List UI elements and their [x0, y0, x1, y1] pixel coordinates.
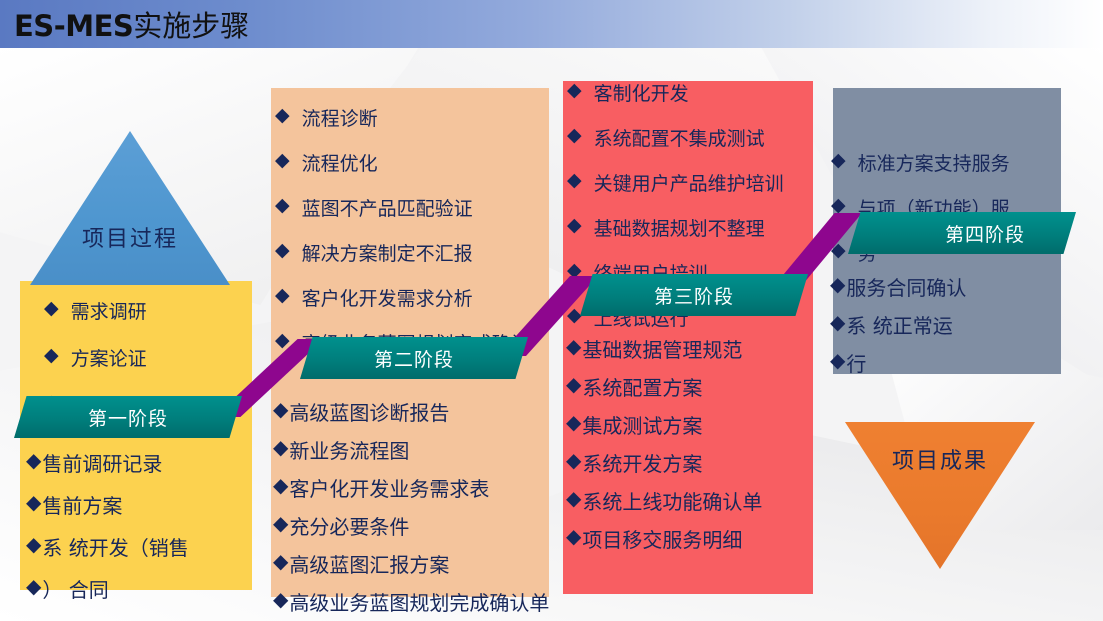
page-title-latin: ES-MES: [14, 9, 133, 43]
stage-1-banner-label: 第一阶段: [88, 404, 168, 431]
list-item-label: 系统配置不集成测试: [594, 124, 765, 151]
list-item-label: 售前方案: [42, 490, 122, 519]
list-item: ◆充分必要条件: [273, 511, 553, 540]
page-title-cjk: 实施步骤: [133, 9, 249, 43]
list-item-label: 系 统正常运: [846, 310, 952, 339]
page-title: ES-MES实施步骤: [14, 3, 249, 45]
stage-1-deliverable-list: ◆售前调研记录◆售前方案◆系 统开发（销售◆） 合同: [26, 448, 248, 616]
list-item-label: 客制化开发: [594, 79, 689, 106]
list-item-label: 流程诊断: [302, 104, 378, 131]
project-result-label: 项目成果: [892, 443, 988, 475]
diamond-bullet-icon: ◆: [566, 410, 581, 434]
list-item-label: 客户化开发业务需求表: [289, 473, 489, 502]
list-item-label: 需求调研: [71, 297, 147, 324]
list-item-label: 系统上线功能确认单: [582, 486, 762, 515]
list-item: ◆需求调研: [44, 297, 147, 324]
list-item-label: 基础数据规划不整理: [594, 214, 765, 241]
diamond-bullet-icon: ◆: [273, 397, 288, 421]
list-item: ◆系统开发方案: [566, 448, 816, 477]
diamond-bullet-icon: ◆: [26, 490, 41, 514]
diamond-bullet-icon: ◆: [830, 310, 845, 334]
diamond-bullet-icon: ◆: [567, 169, 582, 191]
diamond-bullet-icon: ◆: [831, 194, 846, 216]
diamond-bullet-icon: ◆: [275, 194, 290, 216]
diamond-bullet-icon: ◆: [831, 149, 846, 171]
diamond-bullet-icon: ◆: [567, 214, 582, 236]
list-item: ◆关键用户产品维护培训: [567, 169, 819, 196]
list-item: ◆项目移交服务明细: [566, 524, 816, 553]
list-item: ◆） 合同: [26, 574, 248, 603]
list-item: ◆蓝图不产品匹配验证: [275, 194, 551, 221]
list-item: ◆解决方案制定不汇报: [275, 239, 551, 266]
list-item-label: 标准方案支持服务: [858, 149, 1010, 176]
diamond-bullet-icon: ◆: [275, 329, 290, 351]
stage-3-banner[interactable]: 第三阶段: [580, 274, 808, 316]
list-item-label: 解决方案制定不汇报: [302, 239, 473, 266]
list-item: ◆标准方案支持服务: [831, 149, 1061, 176]
list-item: ◆集成测试方案: [566, 410, 816, 439]
list-item: ◆基础数据管理规范: [566, 334, 816, 363]
stage-2-deliverable-list: ◆高级蓝图诊断报告◆新业务流程图◆客户化开发业务需求表◆充分必要条件◆高级蓝图汇…: [273, 397, 553, 621]
list-item-label: 方案论证: [71, 344, 147, 371]
list-item-label: 服务合同确认: [846, 272, 966, 301]
list-item-label: 高级蓝图汇报方案: [289, 549, 449, 578]
list-item-label: 关键用户产品维护培训: [594, 169, 784, 196]
list-item-label: 充分必要条件: [289, 511, 409, 540]
list-item: ◆售前调研记录: [26, 448, 248, 477]
list-item: ◆客户化开发需求分析: [275, 284, 551, 311]
diamond-bullet-icon: ◆: [26, 574, 41, 598]
slide-header-bar: ES-MES实施步骤: [0, 0, 1103, 48]
list-item-label: 售前调研记录: [42, 448, 162, 477]
list-item: ◆高级蓝图诊断报告: [273, 397, 553, 426]
project-process-label: 项目过程: [82, 221, 178, 253]
diamond-bullet-icon: ◆: [26, 532, 41, 556]
list-item-label: 客户化开发需求分析: [302, 284, 473, 311]
list-item: ◆系统上线功能确认单: [566, 486, 816, 515]
list-item: ◆系统配置不集成测试: [567, 124, 819, 151]
diamond-bullet-icon: ◆: [273, 473, 288, 497]
list-item-label: 系 统开发（销售: [42, 532, 188, 561]
diamond-bullet-icon: ◆: [830, 272, 845, 296]
list-item-label: 基础数据管理规范: [582, 334, 742, 363]
diamond-bullet-icon: ◆: [273, 587, 288, 611]
list-item-label: 系统开发方案: [582, 448, 702, 477]
diamond-bullet-icon: ◆: [273, 435, 288, 459]
list-item-label: 行: [846, 348, 866, 377]
list-item: ◆系 统开发（销售: [26, 532, 248, 561]
list-item: ◆客户化开发业务需求表: [273, 473, 553, 502]
list-item-label: 高级业务蓝图规划完成确认单: [289, 587, 549, 616]
list-item: ◆基础数据规划不整理: [567, 214, 819, 241]
diamond-bullet-icon: ◆: [566, 334, 581, 358]
diamond-bullet-icon: ◆: [566, 524, 581, 548]
list-item: ◆系 统正常运: [830, 310, 1056, 339]
list-item: ◆高级业务蓝图规划完成确认单: [273, 587, 553, 616]
stage-4-deliverable-list: ◆服务合同确认◆系 统正常运◆行: [830, 272, 1056, 386]
diamond-bullet-icon: ◆: [44, 297, 59, 319]
stage-3-banner-label: 第三阶段: [654, 282, 734, 309]
list-item-label: 高级蓝图诊断报告: [289, 397, 449, 426]
diamond-bullet-icon: ◆: [567, 79, 582, 101]
list-item: ◆服务合同确认: [830, 272, 1056, 301]
diamond-bullet-icon: ◆: [275, 104, 290, 126]
diamond-bullet-icon: ◆: [26, 448, 41, 472]
diamond-bullet-icon: ◆: [275, 239, 290, 261]
list-item: ◆流程优化: [275, 149, 551, 176]
list-item-label: 流程优化: [302, 149, 378, 176]
list-item-label: 集成测试方案: [582, 410, 702, 439]
list-item-label: 新业务流程图: [289, 435, 409, 464]
stage-4-banner-label: 第四阶段: [899, 220, 1025, 247]
list-item: ◆流程诊断: [275, 104, 551, 131]
stage-4-banner[interactable]: 第四阶段: [848, 212, 1076, 254]
list-item-label: ） 合同: [42, 574, 108, 603]
list-item: ◆方案论证: [44, 344, 147, 371]
diamond-bullet-icon: ◆: [566, 486, 581, 510]
stage-2-banner[interactable]: 第二阶段: [300, 337, 528, 379]
list-item: ◆客制化开发: [567, 79, 819, 106]
stage-1-banner[interactable]: 第一阶段: [14, 396, 242, 438]
diamond-bullet-icon: ◆: [44, 344, 59, 366]
diamond-bullet-icon: ◆: [566, 372, 581, 396]
diamond-bullet-icon: ◆: [273, 511, 288, 535]
stage-2-activity-list: ◆流程诊断◆流程优化◆蓝图不产品匹配验证◆解决方案制定不汇报◆客户化开发需求分析…: [275, 104, 551, 374]
list-item: ◆行: [830, 348, 1056, 377]
diamond-bullet-icon: ◆: [567, 124, 582, 146]
stage-3-deliverable-list: ◆基础数据管理规范◆系统配置方案◆集成测试方案◆系统开发方案◆系统上线功能确认单…: [566, 334, 816, 562]
list-item: ◆系统配置方案: [566, 372, 816, 401]
list-item-label: 蓝图不产品匹配验证: [302, 194, 473, 221]
diamond-bullet-icon: ◆: [830, 348, 845, 372]
diamond-bullet-icon: ◆: [275, 284, 290, 306]
diamond-bullet-icon: ◆: [275, 149, 290, 171]
list-item-label: 系统配置方案: [582, 372, 702, 401]
stage-2-banner-label: 第二阶段: [374, 345, 454, 372]
diamond-bullet-icon: ◆: [273, 549, 288, 573]
diamond-bullet-icon: ◆: [566, 448, 581, 472]
list-item-label: 项目移交服务明细: [582, 524, 742, 553]
list-item: ◆新业务流程图: [273, 435, 553, 464]
list-item: ◆售前方案: [26, 490, 248, 519]
list-item: ◆高级蓝图汇报方案: [273, 549, 553, 578]
